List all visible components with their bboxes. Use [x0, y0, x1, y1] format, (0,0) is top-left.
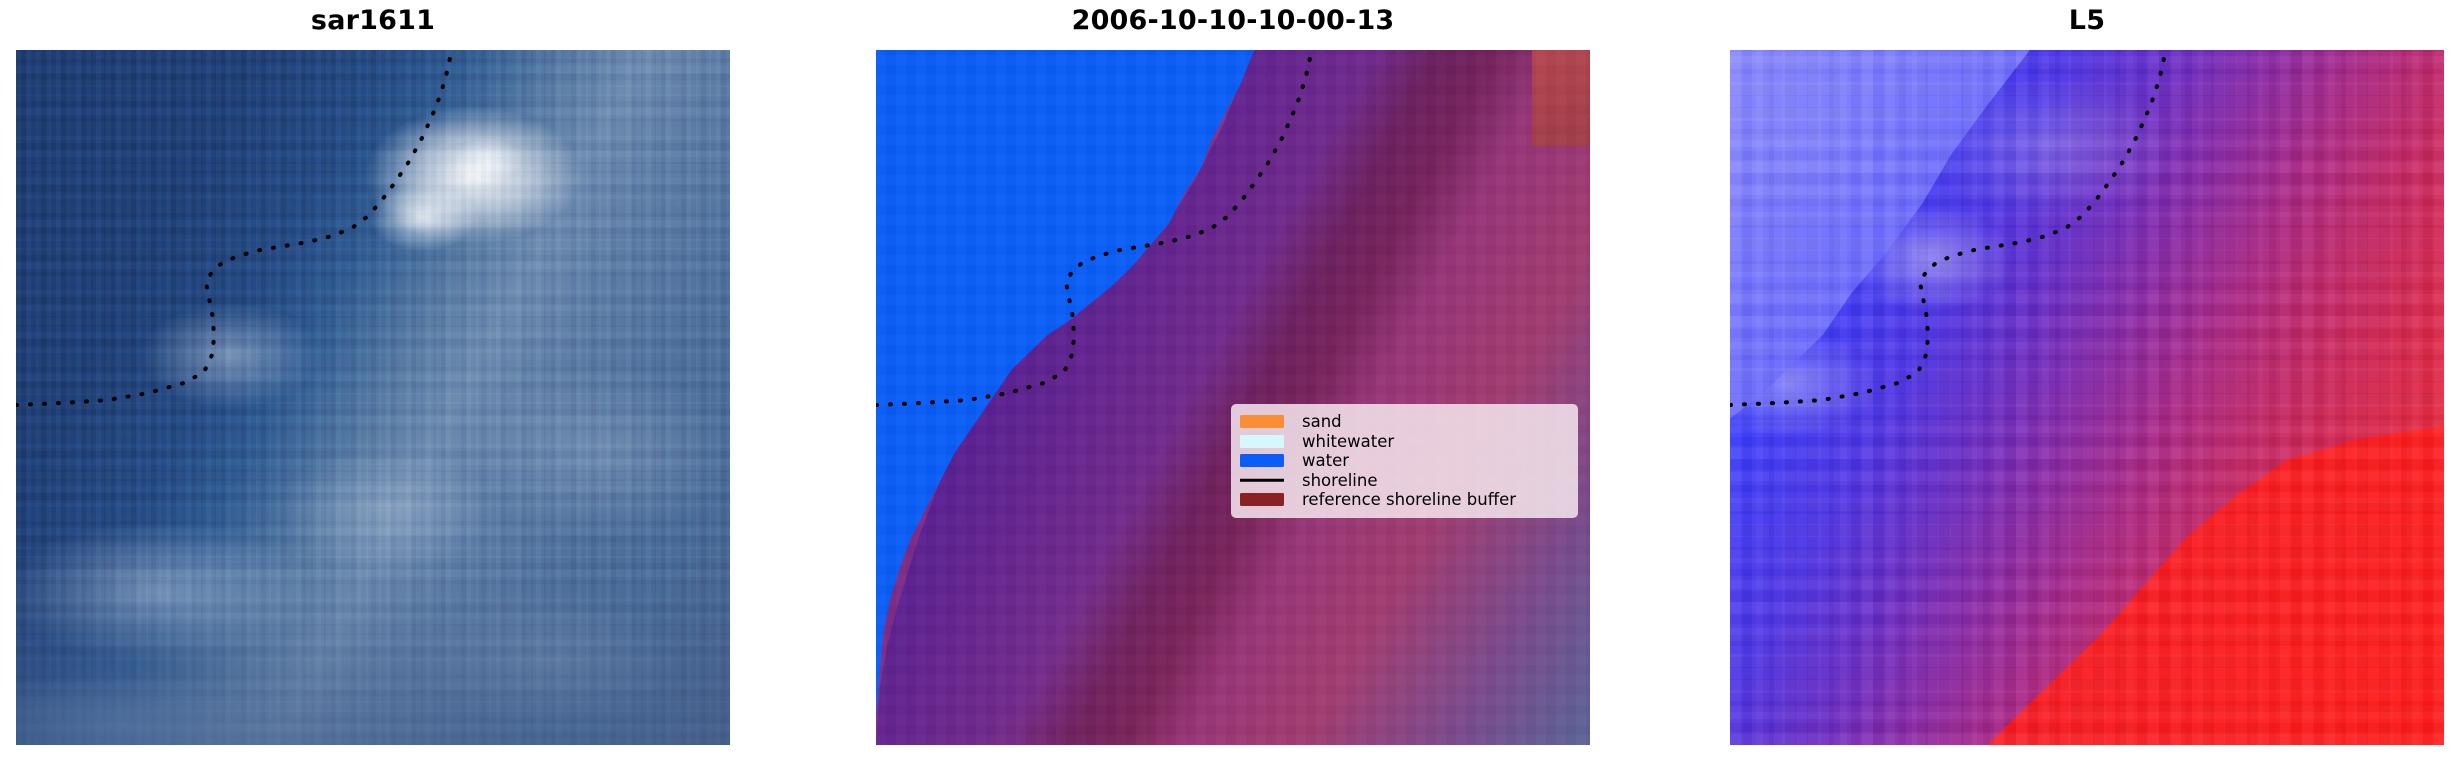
panel-image-l5	[1730, 50, 2444, 745]
l5-raster	[1730, 50, 2444, 745]
classification-raster	[876, 50, 1590, 745]
panel-title-classification: 2006-10-10-10-00-13	[876, 4, 1590, 38]
reference-buffer-swatch-icon	[1240, 493, 1284, 506]
sar-foreshore-layer	[16, 50, 730, 745]
legend-item-sand: sand	[1240, 412, 1568, 432]
panel-image-classification	[876, 50, 1590, 745]
whitewater-swatch-icon	[1240, 435, 1284, 448]
legend-label-sand: sand	[1302, 412, 1342, 431]
legend-label-water: water	[1302, 451, 1349, 470]
legend-box: sand whitewater water shoreline referenc…	[1231, 404, 1578, 518]
sand-swatch-icon	[1240, 415, 1284, 428]
legend-label-whitewater: whitewater	[1302, 432, 1394, 451]
shoreline-line-icon	[1240, 474, 1284, 487]
legend-label-shoreline: shoreline	[1302, 471, 1378, 490]
panel-title-l5: L5	[1730, 4, 2444, 38]
sar-raster	[16, 50, 730, 745]
water-swatch-icon	[1240, 454, 1284, 467]
legend-item-whitewater: whitewater	[1240, 432, 1568, 452]
panel-image-sar	[16, 50, 730, 745]
panel-title-sar: sar1611	[16, 4, 730, 38]
legend-item-water: water	[1240, 451, 1568, 471]
legend-item-shoreline: shoreline	[1240, 471, 1568, 491]
classification-pixelation-layer	[876, 50, 1590, 745]
legend-label-reference-buffer: reference shoreline buffer	[1302, 490, 1516, 509]
l5-pixelation-layer	[1730, 50, 2444, 745]
legend-item-reference-buffer: reference shoreline buffer	[1240, 490, 1568, 510]
figure-canvas: sar1611 2006-10-10-10-00-13 L5	[0, 0, 2460, 758]
